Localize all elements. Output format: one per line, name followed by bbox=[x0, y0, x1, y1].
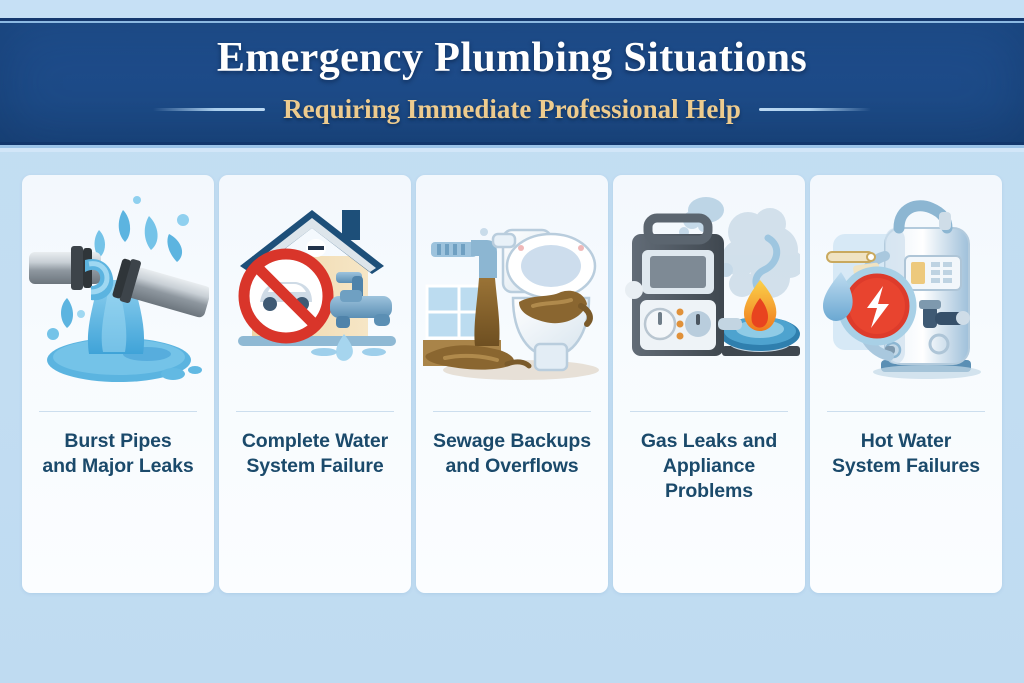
cards-row: Burst Pipes and Major Leaks bbox=[22, 175, 1002, 593]
card-divider bbox=[39, 411, 196, 412]
gas-appliance-burner-flame-smoke-icon bbox=[613, 175, 805, 407]
card-label: Complete Water System Failure bbox=[219, 429, 411, 479]
card-divider bbox=[827, 411, 984, 412]
burst-pipe-water-gush-icon bbox=[22, 175, 214, 407]
infographic-page: Emergency Plumbing Situations Requiring … bbox=[0, 0, 1024, 683]
card-hot-water-system-failures[interactable]: Hot Water System Failures bbox=[810, 175, 1002, 593]
card-label-line-1: Sewage Backups bbox=[421, 429, 603, 454]
card-label-line-1: Complete Water bbox=[224, 429, 406, 454]
subtitle-rule-left bbox=[153, 108, 265, 111]
card-divider bbox=[236, 411, 393, 412]
card-label: Hot Water System Failures bbox=[810, 429, 1002, 479]
card-label-line-2: Appliance Problems bbox=[618, 454, 800, 504]
banner-top-strip bbox=[0, 0, 1024, 18]
card-label: Gas Leaks and Appliance Problems bbox=[613, 429, 805, 504]
card-complete-water-system-failure[interactable]: Complete Water System Failure bbox=[219, 175, 411, 593]
card-label: Sewage Backups and Overflows bbox=[416, 429, 608, 479]
card-label-line-1: Burst Pipes bbox=[27, 429, 209, 454]
card-label-line-1: Gas Leaks and bbox=[618, 429, 800, 454]
page-subtitle: Requiring Immediate Professional Help bbox=[283, 94, 741, 125]
card-label: Burst Pipes and Major Leaks bbox=[22, 429, 214, 479]
card-gas-leaks[interactable]: Gas Leaks and Appliance Problems bbox=[613, 175, 805, 593]
card-divider bbox=[630, 411, 787, 412]
card-sewage-backups[interactable]: Sewage Backups and Overflows bbox=[416, 175, 608, 593]
house-no-water-faucet-drip-icon bbox=[219, 175, 411, 407]
subtitle-rule-right bbox=[759, 108, 871, 111]
card-label-line-2: System Failures bbox=[815, 454, 997, 479]
card-label-line-2: and Overflows bbox=[421, 454, 603, 479]
card-label-line-2: System Failure bbox=[224, 454, 406, 479]
header-banner: Emergency Plumbing Situations Requiring … bbox=[0, 0, 1024, 152]
card-divider bbox=[433, 411, 590, 412]
toilet-sewage-overflow-icon bbox=[416, 175, 608, 407]
card-label-line-1: Hot Water bbox=[815, 429, 997, 454]
card-burst-pipes[interactable]: Burst Pipes and Major Leaks bbox=[22, 175, 214, 593]
banner-rule-bottom-light bbox=[0, 148, 1024, 152]
subtitle-row: Requiring Immediate Professional Help bbox=[0, 94, 1024, 125]
card-label-line-2: and Major Leaks bbox=[27, 454, 209, 479]
page-title: Emergency Plumbing Situations bbox=[0, 34, 1024, 82]
water-heater-electrical-fault-icon bbox=[810, 175, 1002, 407]
